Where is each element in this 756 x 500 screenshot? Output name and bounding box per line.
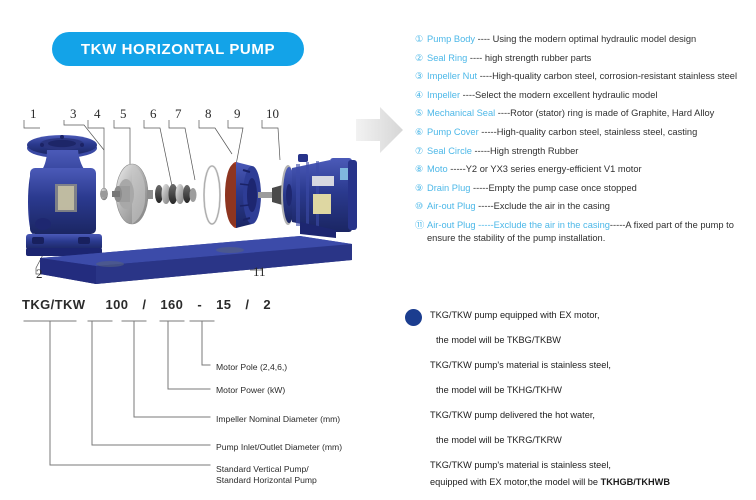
nomenclature-label: Pump Inlet/Outlet Diameter (mm) [216, 442, 342, 453]
legend-number-icon: ⑥ [415, 127, 427, 138]
legend-description: ---- high strength rubber parts [467, 53, 591, 63]
legend-description: -----High strength Rubber [472, 146, 578, 156]
legend-description: -----High-quality carbon steel, stainles… [479, 127, 698, 137]
callout-number-7: 7 [175, 106, 182, 122]
legend-text: Pump Cover -----High-quality carbon stee… [427, 127, 756, 138]
seal-circle-part [204, 166, 220, 224]
nomenclature-label: Impeller Nominal Diameter (mm) [216, 414, 340, 425]
nomenclature-label: Motor Pole (2,4,6,) [216, 362, 287, 373]
legend-item: ⑨Drain Plug -----Empty the pump case onc… [415, 183, 756, 194]
nomenclature-label: Standard Horizontal Pump [216, 475, 317, 486]
legend-description: -----Exclude the air in the casing [476, 201, 610, 211]
callout-number-6: 6 [150, 106, 157, 122]
legend-text: Pump Body ---- Using the modern optimal … [427, 34, 756, 45]
legend-item: ⑥Pump Cover -----High-quality carbon ste… [415, 127, 756, 138]
callout-number-9: 9 [234, 106, 241, 122]
legend-number-icon: ⑪ [415, 220, 427, 231]
nomenclature-label: Standard Vertical Pump/ [216, 464, 309, 475]
nomenclature-label: Motor Power (kW) [216, 385, 285, 396]
legend-text: Seal Circle -----High strength Rubber [427, 146, 756, 157]
legend-part-name: Seal Circle [427, 146, 472, 156]
legend-item: ⑧Moto -----Y2 or YX3 series energy-effic… [415, 164, 756, 175]
legend-part-name: Seal Ring [427, 53, 467, 63]
mechanical-seal-part [147, 184, 197, 204]
impeller-part [112, 164, 148, 224]
callout-number-3: 3 [70, 106, 77, 122]
legend-item: ③Impeller Nut ----High-quality carbon st… [415, 71, 756, 82]
legend-part-name: Pump Body [427, 34, 475, 44]
legend-text: Air-out Plug -----Exclude the air in the… [427, 201, 756, 212]
legend-description: ----Select the modern excellent hydrauli… [460, 90, 657, 100]
note-line: TKG/TKW pump's material is stainless ste… [430, 460, 611, 470]
note-line: TKG/TKW pump's material is stainless ste… [430, 360, 611, 370]
legend-text: Moto -----Y2 or YX3 series energy-effici… [427, 164, 756, 175]
legend-item: ②Seal Ring ---- high strength rubber par… [415, 53, 756, 64]
callout-number-1: 1 [30, 106, 37, 122]
note-line: the model will be TKRG/TKRW [436, 435, 562, 445]
legend-text: Drain Plug -----Empty the pump case once… [427, 183, 756, 194]
note-line: TKG/TKW pump equipped with EX motor, [430, 310, 600, 320]
motor-shaft-part [258, 165, 295, 225]
legend-part-name: Drain Plug [427, 183, 470, 193]
legend-item: ⑤Mechanical Seal ----Rotor (stator) ring… [415, 108, 756, 119]
legend-description: -----Y2 or YX3 series energy-efficient V… [448, 164, 642, 174]
page-title: TKW HORIZONTAL PUMP [81, 41, 275, 58]
legend-text: Air-out Plug -----Exclude the air in the… [427, 220, 756, 244]
parts-legend-list: ①Pump Body ---- Using the modern optimal… [415, 34, 756, 252]
note-line: TKG/TKW pump delivered the hot water, [430, 410, 595, 420]
note-line: the model will be TKBG/TKBW [436, 335, 561, 345]
legend-description-continued: ensure the stability of the pump install… [427, 233, 756, 244]
model-variant-notes: TKG/TKW pump equipped with EX motor,the … [400, 302, 756, 492]
legend-number-icon: ⑧ [415, 164, 427, 175]
legend-part-name: Mechanical Seal [427, 108, 495, 118]
legend-part-name: Impeller Nut [427, 71, 477, 81]
legend-description: ---- Using the modern optimal hydraulic … [475, 34, 696, 44]
callout-number-4: 4 [94, 106, 101, 122]
legend-part-name: Air-out Plug [427, 201, 476, 211]
legend-part-name: Pump Cover [427, 127, 479, 137]
legend-number-icon: ② [415, 53, 427, 64]
callout-number-5: 5 [120, 106, 127, 122]
callout-number-2: 2 [36, 266, 43, 282]
legend-description: -----Empty the pump case once stopped [470, 183, 636, 193]
legend-number-icon: ⑦ [415, 146, 427, 157]
callout-number-10: 10 [266, 106, 279, 122]
legend-description: ----High-quality carbon steel, corrosion… [477, 71, 737, 81]
legend-description: -----A fixed part of the pump to [610, 220, 734, 230]
pump-body-part [26, 135, 102, 256]
legend-description: ----Rotor (stator) ring is made of Graph… [495, 108, 714, 118]
legend-text: Impeller ----Select the modern excellent… [427, 90, 756, 101]
legend-part-name: Moto [427, 164, 448, 174]
note-line: the model will be TKHG/TKHW [436, 385, 562, 395]
legend-number-icon: ⑨ [415, 183, 427, 194]
flow-arrow-icon [356, 103, 404, 157]
page-title-banner: TKW HORIZONTAL PUMP [52, 32, 304, 66]
legend-number-icon: ④ [415, 90, 427, 101]
pump-cover-part [225, 162, 261, 228]
callout-number-11: 11 [253, 264, 266, 280]
model-nomenclature-diagram: TKG/TKW 100 / 160 - 15 / 2 Motor Pole (2… [0, 292, 400, 492]
legend-item: ①Pump Body ---- Using the modern optimal… [415, 34, 756, 45]
callout-number-8: 8 [205, 106, 212, 122]
legend-text: Seal Ring ---- high strength rubber part… [427, 53, 756, 64]
bullet-dot-icon [405, 309, 422, 326]
motor-part [292, 154, 357, 238]
exploded-pump-illustration [0, 98, 360, 290]
legend-item: ⑩Air-out Plug -----Exclude the air in th… [415, 201, 756, 212]
legend-item: ④Impeller ----Select the modern excellen… [415, 90, 756, 101]
legend-number-icon: ⑤ [415, 108, 427, 119]
legend-number-icon: ① [415, 34, 427, 45]
note-line: equipped with EX motor,the model will be… [430, 477, 670, 487]
legend-number-icon: ③ [415, 71, 427, 82]
legend-text: Mechanical Seal ----Rotor (stator) ring … [427, 108, 756, 119]
legend-part-name: Air-out Plug -----Exclude the air in the… [427, 220, 610, 230]
nomenclature-leader-lines [0, 292, 400, 492]
impeller-nut-part [100, 188, 107, 200]
legend-item: ⑪Air-out Plug -----Exclude the air in th… [415, 220, 756, 244]
legend-number-icon: ⑩ [415, 201, 427, 212]
legend-part-name: Impeller [427, 90, 460, 100]
legend-text: Impeller Nut ----High-quality carbon ste… [427, 71, 756, 82]
legend-item: ⑦Seal Circle -----High strength Rubber [415, 146, 756, 157]
pump-exploded-svg [0, 98, 360, 290]
